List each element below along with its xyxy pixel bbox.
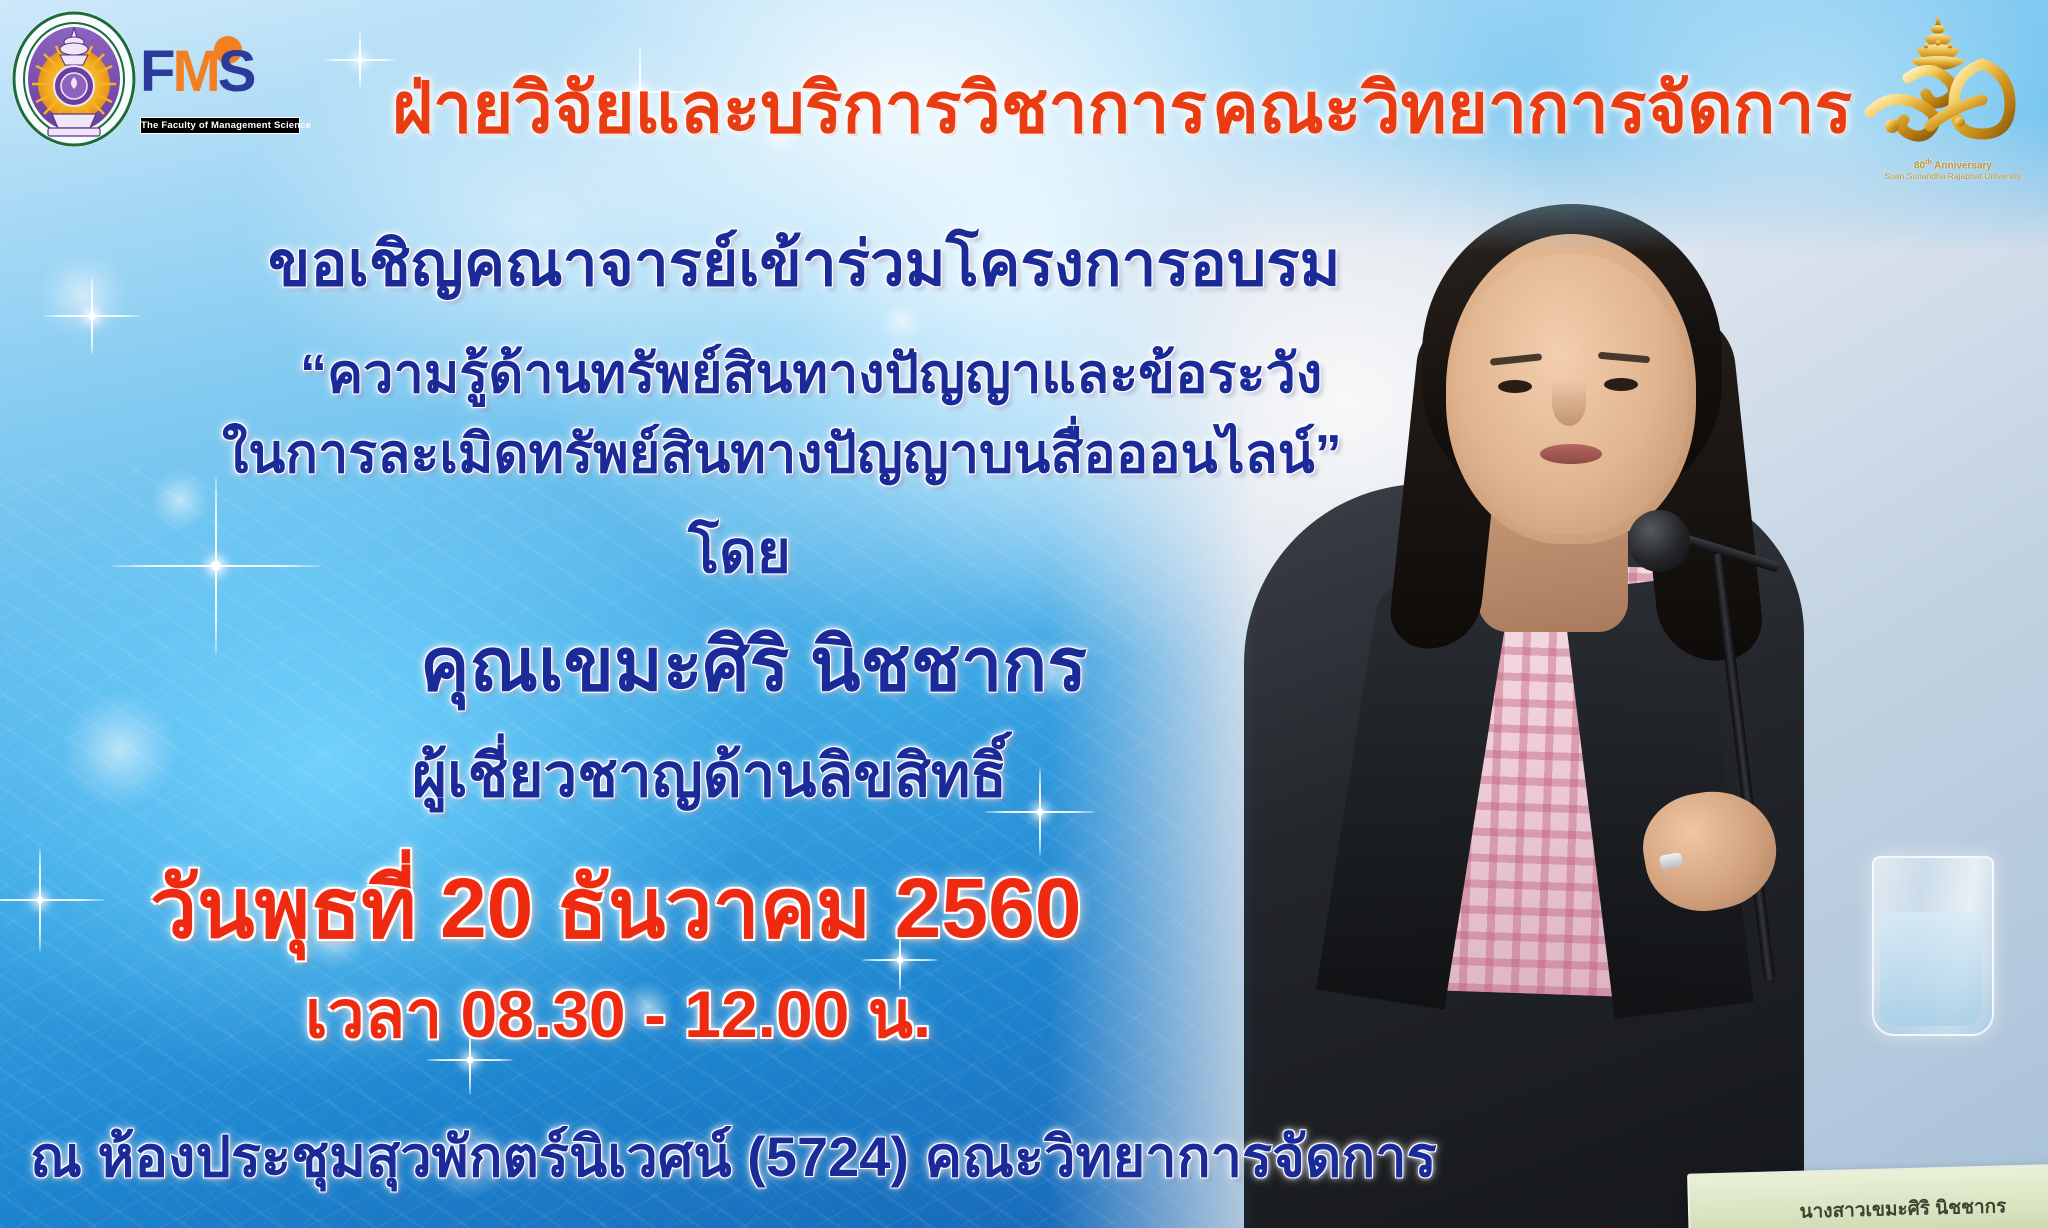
- fms-letter-s: S: [218, 39, 254, 104]
- anniversary-label: Anniversary: [1934, 160, 1992, 171]
- fms-letter-f: F: [140, 39, 172, 104]
- fms-letter-m: M: [172, 39, 217, 104]
- speaker-name: คุณเขมะศิริ นิชชากร: [420, 605, 1087, 723]
- bokeh-dot: [150, 470, 210, 530]
- event-venue: ณ ห้องประชุมสุวพักตร์นิเวศน์ (5724) คณะว…: [30, 1112, 1437, 1201]
- bokeh-dot: [38, 250, 128, 340]
- anniversary-ordinal: th: [1925, 159, 1932, 166]
- fms-logo-letters: FMS: [140, 42, 300, 104]
- bokeh-dot: [60, 690, 180, 810]
- header-department: ฝ่ายวิจัยและบริการวิชาการ: [392, 52, 1207, 163]
- invitation-call-to-action: ขอเชิญคณาจารย์เข้าร่วมโครงการอบรม: [268, 215, 1340, 313]
- water-glass-contents: [1880, 912, 1982, 1026]
- header-faculty: คณะวิทยาการจัดการ: [1212, 52, 1852, 163]
- event-poster: นางสาวเขมะศิริ นิชชากร: [0, 0, 2048, 1228]
- anniversary-university: Suan Sunandha Rajabhat University: [1864, 171, 2042, 182]
- speaker-eye-right: [1604, 378, 1638, 391]
- event-time: เวลา 08.30 - 12.00 น.: [305, 962, 931, 1067]
- speaker-mouth: [1540, 444, 1602, 464]
- anniversary-years: 80: [1914, 160, 1925, 171]
- speaker-nose: [1552, 380, 1586, 426]
- training-topic-line-2: ในการละเมิดทรัพย์สินทางปัญญาบนสื่อออนไลน…: [222, 410, 1342, 496]
- training-topic-line-1: “ความรู้ด้านทรัพย์สินทางปัญญาและข้อระวัง: [300, 330, 1322, 416]
- speaker-eye-left: [1498, 380, 1532, 393]
- fms-tagline: The Faculty of Management Science: [140, 117, 300, 134]
- anniversary-logo: 80th Anniversary Suan Sunandha Rajabhat …: [1864, 6, 2042, 186]
- event-date: วันพุธที่ 20 ธันวาคม 2560: [150, 840, 1082, 974]
- speaker-title: ผู้เชี่ยวชาญด้านลิขสิทธิ์: [412, 728, 1007, 823]
- fms-faculty-logo: FMS The Faculty of Management Science: [140, 36, 300, 136]
- ssru-university-seal: [8, 8, 140, 150]
- by-label: โดย: [688, 505, 791, 598]
- anniversary-caption: 80th Anniversary Suan Sunandha Rajabhat …: [1864, 157, 2042, 182]
- microphone-head: [1628, 510, 1690, 572]
